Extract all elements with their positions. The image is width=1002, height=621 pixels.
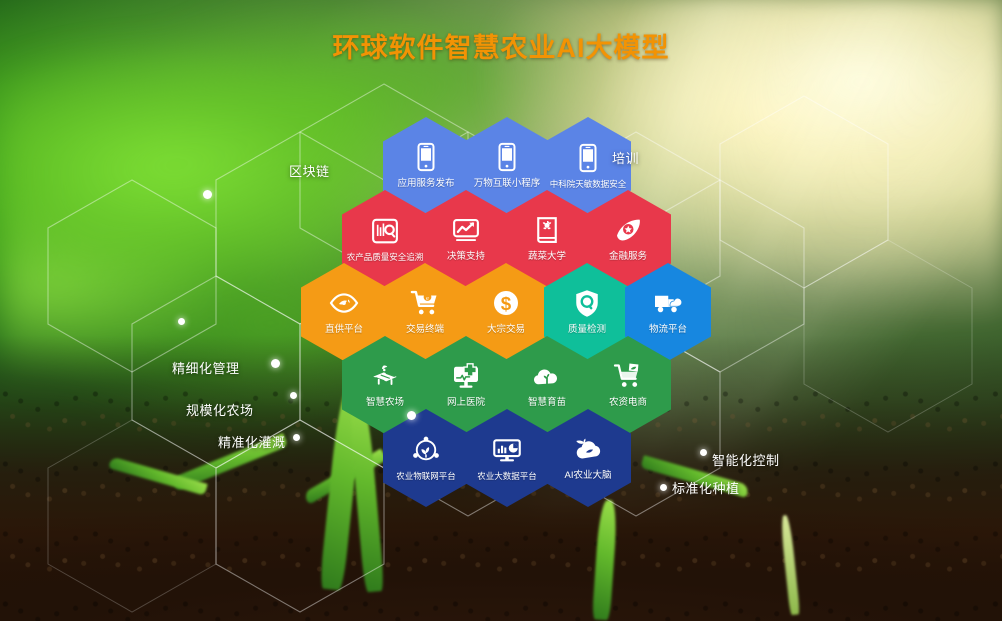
mesh-node-dot <box>700 449 707 456</box>
delivery-truck-icon <box>653 288 683 318</box>
hex-label: 智慧育苗 <box>501 398 593 408</box>
mesh-node-dot <box>178 318 185 325</box>
traceability-search-icon <box>370 216 400 246</box>
hex-label: 中科院天敏数据安全 <box>542 180 634 189</box>
iot-network-leaf-icon <box>411 435 441 465</box>
infographic-canvas: 环球软件智慧农业AI大模型 区块链 精细化管理 规模化农场 精准化灌溉 培训 智… <box>0 0 1002 621</box>
hex-label: 网上医院 <box>420 398 512 408</box>
hex-label: 金融服务 <box>582 252 674 262</box>
hex-label: 农资电商 <box>582 398 674 408</box>
hex-label: 农业大数据平台 <box>461 472 553 481</box>
hexagon-grid: 应用服务发布 万物互联小程序 中科院天敏数据安全 农产品质量安全追溯 决策支 <box>0 0 1002 621</box>
mesh-node-dot <box>293 434 300 441</box>
smart-farm-icon <box>370 361 400 391</box>
big-data-monitor-icon <box>492 435 522 465</box>
hex-label: 蔬菜大学 <box>501 252 593 262</box>
mesh-node-dot <box>290 392 297 399</box>
outer-label-refined-management: 精细化管理 <box>172 358 240 377</box>
outer-label-training: 培训 <box>612 148 639 167</box>
ai-cloud-brain-icon <box>573 434 603 464</box>
mesh-node-dot <box>407 411 416 420</box>
dollar-coin-icon: $ <box>491 288 521 318</box>
hex-label: 交易终端 <box>379 325 471 335</box>
agri-ecommerce-cart-icon <box>613 361 643 391</box>
mobile-phone-icon <box>492 142 522 172</box>
hex-label: 大宗交易 <box>460 325 552 335</box>
seedling-cloud-icon <box>532 361 562 391</box>
hex-label: 农业物联网平台 <box>380 472 472 481</box>
shopping-cart-e-icon: e <box>410 288 440 318</box>
shield-check-icon <box>572 288 602 318</box>
outer-label-blockchain: 区块链 <box>289 161 330 180</box>
finance-coin-icon <box>613 215 643 245</box>
hex-label: 质量检测 <box>541 325 633 335</box>
online-hospital-icon <box>451 361 481 391</box>
outer-label-precision-irrigation: 精准化灌溉 <box>218 432 286 451</box>
book-icon <box>532 215 562 245</box>
mesh-node-dot <box>203 190 212 199</box>
hex-label: 应用服务发布 <box>380 179 472 189</box>
supply-eye-icon <box>329 288 359 318</box>
svg-text:e: e <box>426 295 429 302</box>
hex-label: 决策支持 <box>420 252 512 262</box>
trend-chart-icon <box>451 215 481 245</box>
hex-label: AI农业大脑 <box>542 471 634 481</box>
outer-label-scaled-farm: 规模化农场 <box>186 400 254 419</box>
mobile-phone-icon <box>411 142 441 172</box>
mesh-node-dot <box>660 484 667 491</box>
hex-label: 农产品质量安全追溯 <box>339 253 431 262</box>
outer-label-standardized-planting: 标准化种植 <box>672 478 740 497</box>
mesh-node-dot <box>271 359 280 368</box>
hex-label: 万物互联小程序 <box>461 179 553 189</box>
outer-label-intelligent-control: 智能化控制 <box>712 450 780 469</box>
page-title: 环球软件智慧农业AI大模型 <box>0 26 1002 65</box>
svg-text:$: $ <box>501 293 512 314</box>
hex-label: 直供平台 <box>298 325 390 335</box>
hex-label: 物流平台 <box>622 325 714 335</box>
hex-label: 智慧农场 <box>339 398 431 408</box>
mobile-phone-icon <box>573 143 603 173</box>
